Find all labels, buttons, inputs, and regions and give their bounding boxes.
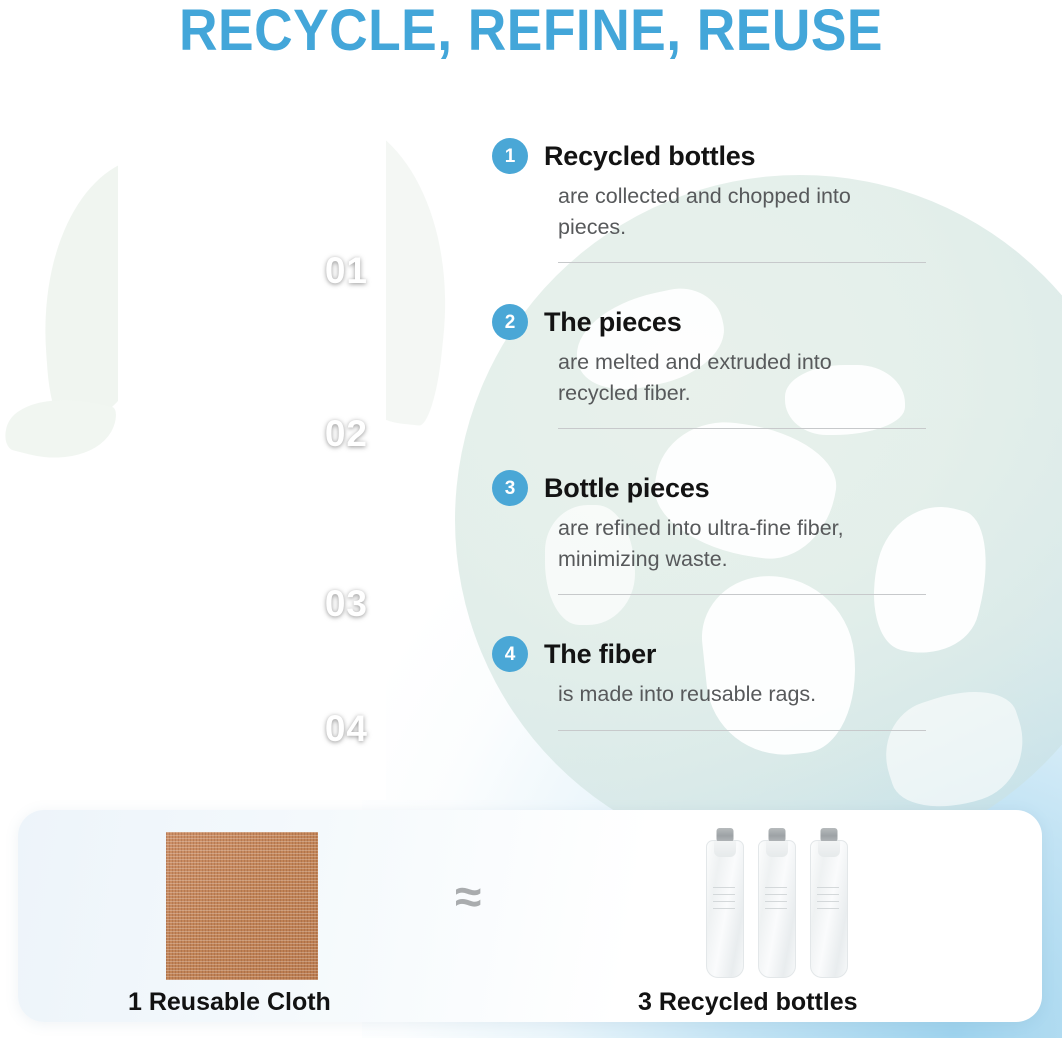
- step-description: are refined into ultra-fine fiber, minim…: [558, 513, 888, 574]
- leaf-watermark-small: [2, 383, 119, 472]
- step-number-badge: 3: [492, 470, 528, 506]
- bottle-diagram: 01 02 03 04: [118, 100, 386, 800]
- bottle-rings: [765, 887, 787, 911]
- step-number-badge: 4: [492, 636, 528, 672]
- steps-list: 1 Recycled bottles are collected and cho…: [492, 138, 932, 802]
- step-description: are melted and extruded into recycled fi…: [558, 347, 888, 408]
- pet-bottle: [758, 840, 796, 978]
- bottle-rings: [817, 887, 839, 911]
- bottle-rings: [713, 887, 735, 911]
- step-item: 3 Bottle pieces are refined into ultra-f…: [492, 470, 932, 636]
- step-divider: [558, 730, 926, 731]
- step-header: 1 Recycled bottles: [492, 138, 932, 174]
- recycled-bottles-image: [706, 826, 856, 978]
- step-number-badge: 2: [492, 304, 528, 340]
- step-divider: [558, 428, 926, 429]
- step-number-badge: 1: [492, 138, 528, 174]
- approximately-equal-icon: ≈: [455, 874, 481, 922]
- step-title: The pieces: [544, 307, 682, 338]
- step-title: Bottle pieces: [544, 473, 709, 504]
- step-item: 2 The pieces are melted and extruded int…: [492, 304, 932, 470]
- step-item: 1 Recycled bottles are collected and cho…: [492, 138, 932, 304]
- step-divider: [558, 594, 926, 595]
- comparison-panel: 1 Reusable Cloth 3 Recycled bottles: [18, 810, 1042, 1022]
- bottles-label: 3 Recycled bottles: [638, 988, 858, 1017]
- step-title: The fiber: [544, 639, 656, 670]
- step-divider: [558, 262, 926, 263]
- step-header: 3 Bottle pieces: [492, 470, 932, 506]
- step-header: 2 The pieces: [492, 304, 932, 340]
- step-item: 4 The fiber is made into reusable rags.: [492, 636, 932, 802]
- cloth-swatch-image: [166, 832, 318, 980]
- step-header: 4 The fiber: [492, 636, 932, 672]
- cloth-label: 1 Reusable Cloth: [128, 988, 331, 1017]
- page-title: RECYCLE, REFINE, REUSE: [42, 2, 1019, 60]
- step-title: Recycled bottles: [544, 141, 755, 172]
- infographic-poster: RECYCLE, REFINE, REUSE 01 02 03 04: [0, 0, 1062, 1038]
- step-description: is made into reusable rags.: [558, 679, 888, 710]
- pet-bottle: [810, 840, 848, 978]
- step-description: are collected and chopped into pieces.: [558, 181, 888, 242]
- pet-bottle: [706, 840, 744, 978]
- band-number-04: 04: [325, 708, 368, 794]
